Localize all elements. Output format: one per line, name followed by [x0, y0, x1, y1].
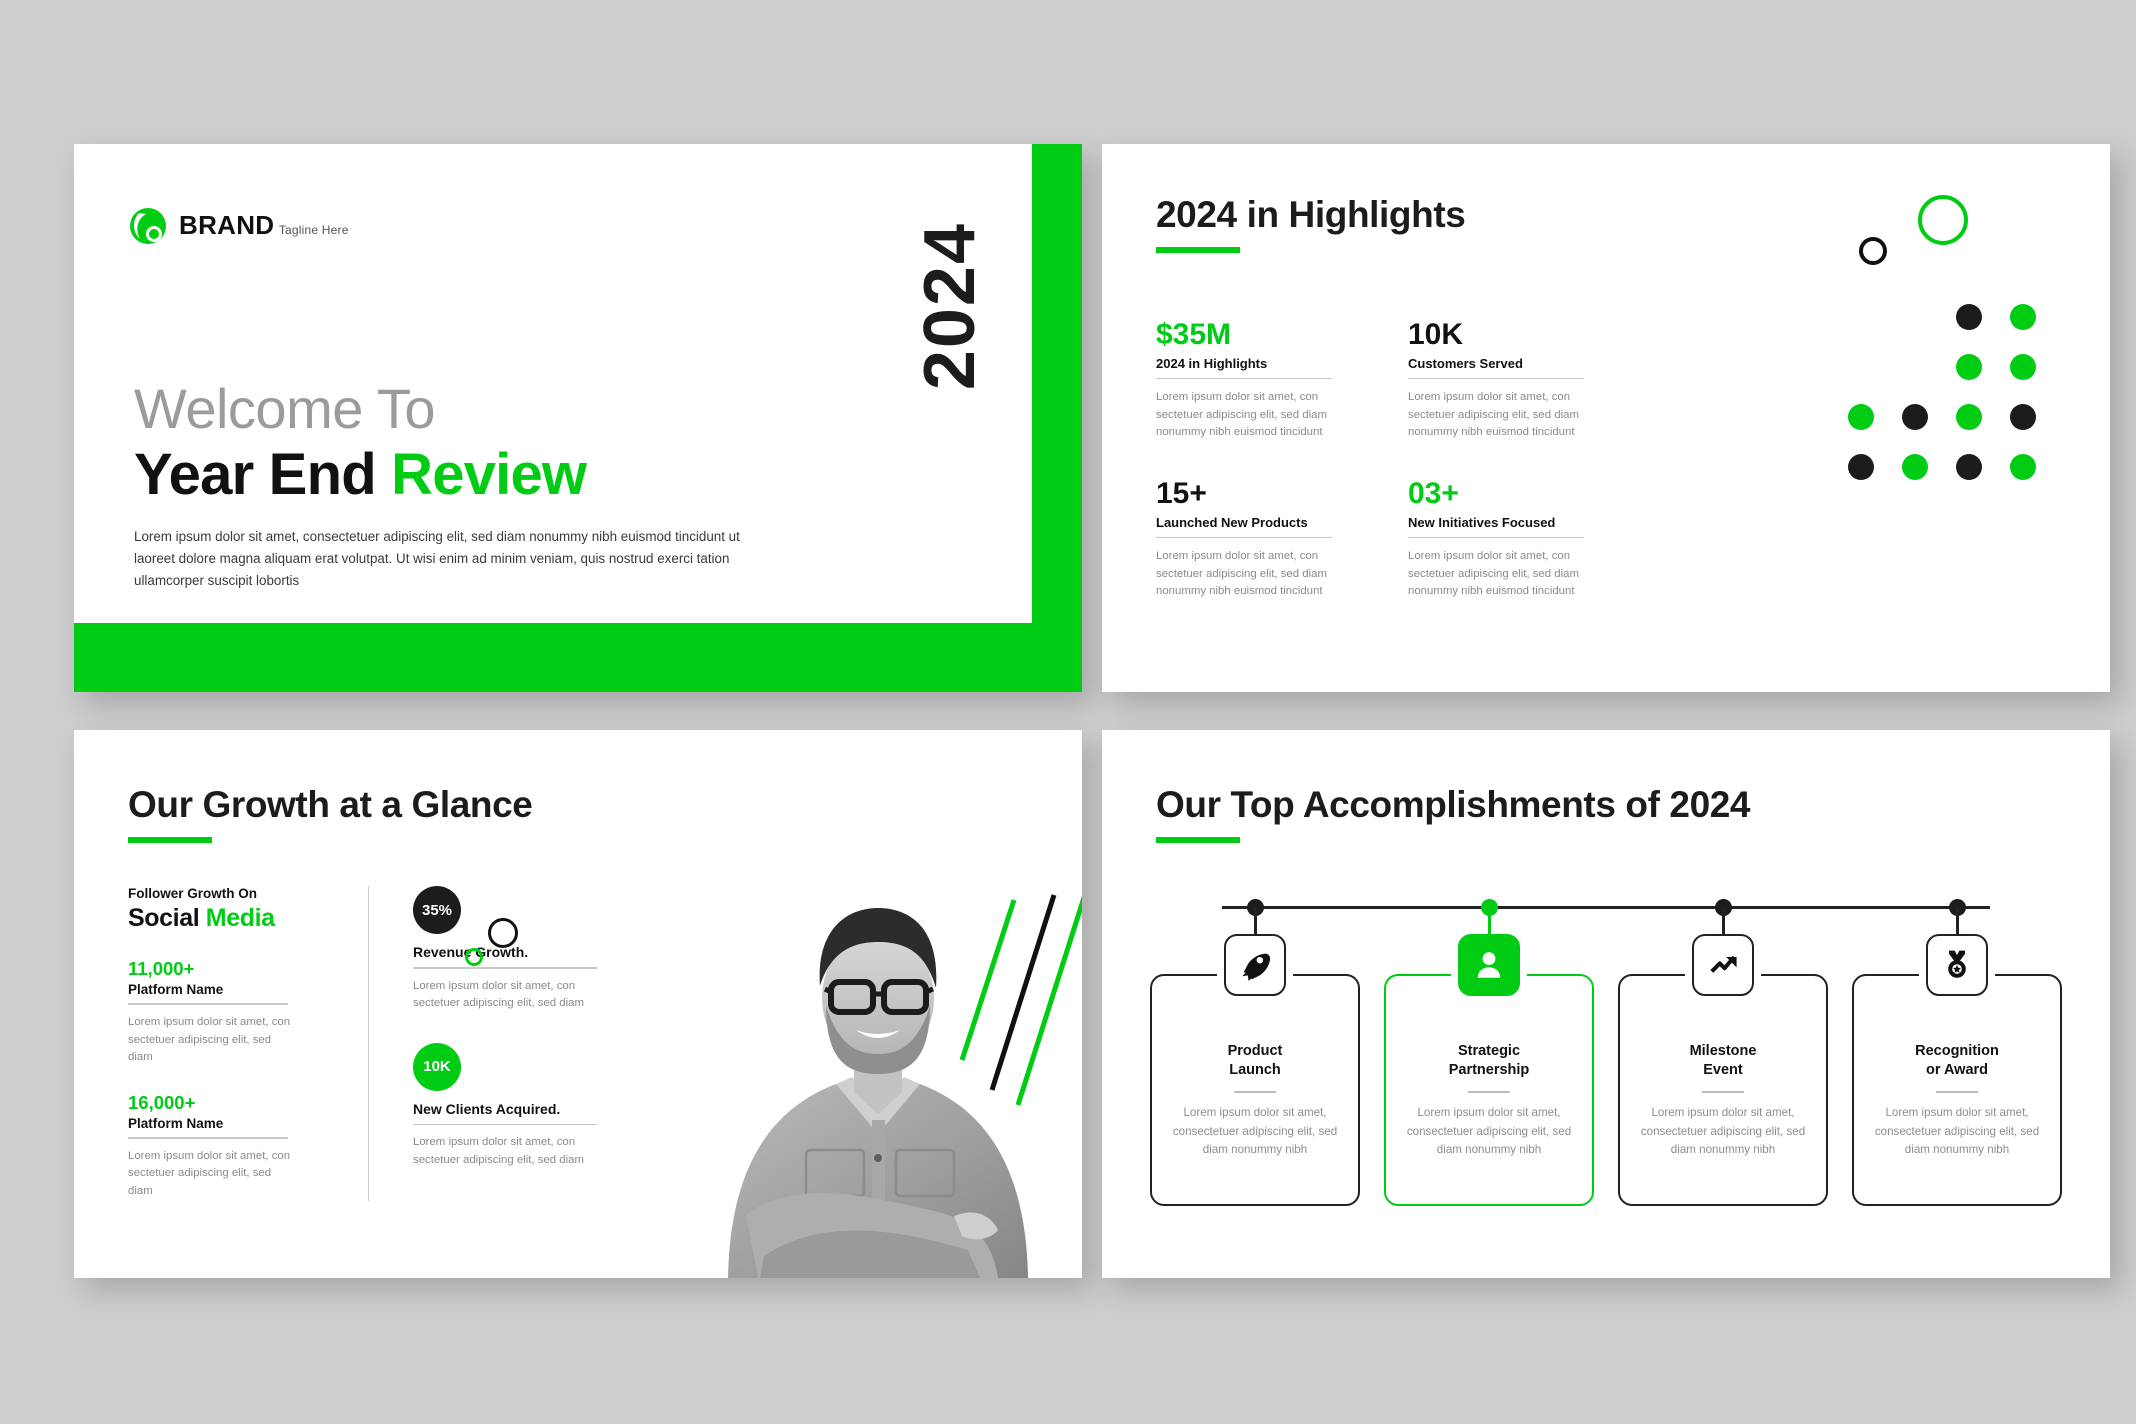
circle-outline-green-icon	[1918, 195, 1968, 245]
brand-logo-icon	[128, 206, 168, 246]
platform-divider	[128, 1003, 288, 1005]
accomplishment-card[interactable]: MilestoneEventLorem ipsum dolor sit amet…	[1618, 974, 1828, 1206]
main-title-dark: Year End	[134, 442, 376, 507]
main-title: Year End Review	[134, 443, 834, 507]
platform-divider	[128, 1137, 288, 1139]
stat-divider	[1408, 537, 1584, 539]
stat-divider	[1156, 378, 1332, 380]
dot-grid-pattern	[1834, 292, 2050, 492]
slide-deck: BRAND Tagline Here 2024 Welcome To Year …	[0, 0, 2136, 1424]
slide3-header: Our Growth at a Glance	[128, 784, 532, 843]
dot-dark-icon	[1902, 404, 1928, 430]
stat-label: 2024 in Highlights	[1156, 356, 1354, 371]
rocket-icon	[1240, 949, 1270, 981]
dot-green-icon	[2010, 454, 2036, 480]
stat-label: New Initiatives Focused	[1408, 515, 1606, 530]
metric-description: Lorem ipsum dolor sit amet, con sectetue…	[413, 1134, 599, 1169]
page-title: Our Growth at a Glance	[128, 784, 532, 826]
timeline-flow: ProductLaunchLorem ipsum dolor sit amet,…	[1150, 906, 2062, 1206]
card-title: ProductLaunch	[1168, 1042, 1342, 1080]
stat-value: 15+	[1156, 478, 1354, 510]
card-description: Lorem ipsum dolor sit amet, consectetuer…	[1636, 1104, 1810, 1160]
metric-description: Lorem ipsum dolor sit amet, con sectetue…	[413, 978, 599, 1013]
slide-accomplishments[interactable]: Our Top Accomplishments of 2024 ProductL…	[1102, 730, 2110, 1278]
accomplishment-card[interactable]: ProductLaunchLorem ipsum dolor sit amet,…	[1150, 974, 1360, 1206]
page-title: Our Top Accomplishments of 2024	[1156, 784, 1750, 826]
stat-item: 03+New Initiatives FocusedLorem ipsum do…	[1408, 478, 1606, 601]
card-icon-box	[1692, 934, 1754, 996]
dot-empty	[1848, 354, 1874, 380]
card-icon-box	[1224, 934, 1286, 996]
metric-divider	[413, 967, 597, 969]
social-subtitle-green: Media	[206, 904, 275, 932]
card-divider	[1702, 1091, 1744, 1094]
platform-label: Platform Name	[128, 982, 328, 997]
stat-item: $35M2024 in HighlightsLorem ipsum dolor …	[1156, 319, 1354, 442]
trending-up-icon	[1708, 949, 1738, 981]
platform-description: Lorem ipsum dolor sit amet, con sectetue…	[128, 1148, 296, 1201]
circle-outline-dark-icon	[1859, 237, 1887, 265]
stat-value: $35M	[1156, 319, 1354, 351]
platform-label: Platform Name	[128, 1116, 328, 1131]
social-kicker: Follower Growth On	[128, 886, 328, 901]
stat-value: 10K	[1408, 319, 1606, 351]
platform-value: 16,000+	[128, 1093, 328, 1113]
slide-growth[interactable]: Our Growth at a Glance Follower Growth O…	[74, 730, 1082, 1278]
brand-logo[interactable]: BRAND Tagline Here	[128, 206, 349, 246]
card-divider	[1936, 1091, 1978, 1094]
stat-description: Lorem ipsum dolor sit amet, con sectetue…	[1156, 548, 1328, 601]
dot-green-icon	[2010, 304, 2036, 330]
metric-badge: 10K	[413, 1043, 461, 1091]
stat-description: Lorem ipsum dolor sit amet, con sectetue…	[1156, 389, 1328, 442]
dot-dark-icon	[1956, 454, 1982, 480]
stat-label: Launched New Products	[1156, 515, 1354, 530]
brand-tagline: Tagline Here	[279, 223, 349, 237]
green-accent-right	[1032, 144, 1082, 692]
metric-divider	[413, 1124, 597, 1126]
stat-description: Lorem ipsum dolor sit amet, con sectetue…	[1408, 548, 1580, 601]
card-divider	[1234, 1091, 1276, 1094]
card-title: Recognitionor Award	[1870, 1042, 2044, 1080]
medal-icon	[1942, 949, 1972, 981]
card-description: Lorem ipsum dolor sit amet, consectetuer…	[1168, 1104, 1342, 1160]
social-subtitle-dark: Social	[128, 904, 199, 932]
accomplishment-card[interactable]: Recognitionor AwardLorem ipsum dolor sit…	[1852, 974, 2062, 1206]
stat-value: 03+	[1408, 478, 1606, 510]
metric-item: 35%Revenue Growth.Lorem ipsum dolor sit …	[413, 886, 612, 1013]
slide-highlights[interactable]: 2024 in Highlights $35M2024 in Highlight…	[1102, 144, 2110, 692]
dot-green-icon	[1902, 454, 1928, 480]
title-underline	[1156, 837, 1240, 843]
main-title-green: Review	[391, 442, 586, 507]
stat-item: 15+Launched New ProductsLorem ipsum dolo…	[1156, 478, 1354, 601]
dot-empty	[1902, 304, 1928, 330]
accomplishment-cards: ProductLaunchLorem ipsum dolor sit amet,…	[1150, 974, 2062, 1206]
metric-item: 10KNew Clients Acquired.Lorem ipsum dolo…	[413, 1043, 612, 1170]
social-column: Follower Growth On Social Media 11,000+P…	[128, 886, 328, 1201]
card-icon-box	[1926, 934, 1988, 996]
platform-value: 11,000+	[128, 959, 328, 979]
year-vertical-label: 2024	[914, 222, 986, 390]
slide4-header: Our Top Accomplishments of 2024	[1156, 784, 1750, 843]
card-title: MilestoneEvent	[1636, 1042, 1810, 1080]
green-accent-bottom	[74, 623, 1082, 692]
metric-title: New Clients Acquired.	[413, 1101, 612, 1117]
metric-title: Revenue Growth.	[413, 944, 612, 960]
dot-green-icon	[1956, 354, 1982, 380]
stats-grid: $35M2024 in HighlightsLorem ipsum dolor …	[1156, 319, 1606, 601]
dot-green-icon	[1848, 404, 1874, 430]
slide2-header: 2024 in Highlights	[1156, 194, 1465, 253]
brand-name: BRAND	[179, 210, 274, 240]
stat-item: 10KCustomers ServedLorem ipsum dolor sit…	[1408, 319, 1606, 442]
slide-welcome[interactable]: BRAND Tagline Here 2024 Welcome To Year …	[74, 144, 1082, 692]
platform-description: Lorem ipsum dolor sit amet, con sectetue…	[128, 1014, 296, 1067]
timeline-spine	[1222, 906, 1990, 909]
title-underline	[128, 837, 212, 843]
stat-divider	[1408, 378, 1584, 380]
welcome-line: Welcome To	[134, 379, 834, 439]
page-title: 2024 in Highlights	[1156, 194, 1465, 236]
card-divider	[1468, 1091, 1510, 1094]
dot-empty	[1902, 354, 1928, 380]
card-description: Lorem ipsum dolor sit amet, consectetuer…	[1402, 1104, 1576, 1160]
intro-paragraph: Lorem ipsum dolor sit amet, consectetuer…	[134, 526, 774, 591]
card-title: StrategicPartnership	[1402, 1042, 1576, 1080]
portrait-photo	[668, 858, 1082, 1278]
title-block: Welcome To Year End Review Lorem ipsum d…	[134, 379, 834, 591]
circle-outline-dark-icon	[488, 918, 518, 948]
platform-stat: 11,000+Platform NameLorem ipsum dolor si…	[128, 959, 328, 1067]
platform-stats-list: 11,000+Platform NameLorem ipsum dolor si…	[128, 959, 328, 1201]
card-icon-box	[1458, 934, 1520, 996]
dot-empty	[1848, 304, 1874, 330]
stat-divider	[1156, 537, 1332, 539]
metric-badge: 35%	[413, 886, 461, 934]
stat-label: Customers Served	[1408, 356, 1606, 371]
social-subtitle: Social Media	[128, 904, 328, 933]
card-description: Lorem ipsum dolor sit amet, consectetuer…	[1870, 1104, 2044, 1160]
dot-dark-icon	[1848, 454, 1874, 480]
user-tie-icon	[1474, 949, 1504, 981]
dot-green-icon	[1956, 404, 1982, 430]
growth-columns: Follower Growth On Social Media 11,000+P…	[128, 886, 612, 1201]
platform-stat: 16,000+Platform NameLorem ipsum dolor si…	[128, 1093, 328, 1201]
title-underline	[1156, 247, 1240, 253]
dot-dark-icon	[2010, 404, 2036, 430]
dot-dark-icon	[1956, 304, 1982, 330]
decorative-shapes	[1680, 144, 2110, 692]
dot-green-icon	[2010, 354, 2036, 380]
accomplishment-card[interactable]: StrategicPartnershipLorem ipsum dolor si…	[1384, 974, 1594, 1206]
circle-outline-green-icon	[465, 948, 483, 966]
stat-description: Lorem ipsum dolor sit amet, con sectetue…	[1408, 389, 1580, 442]
